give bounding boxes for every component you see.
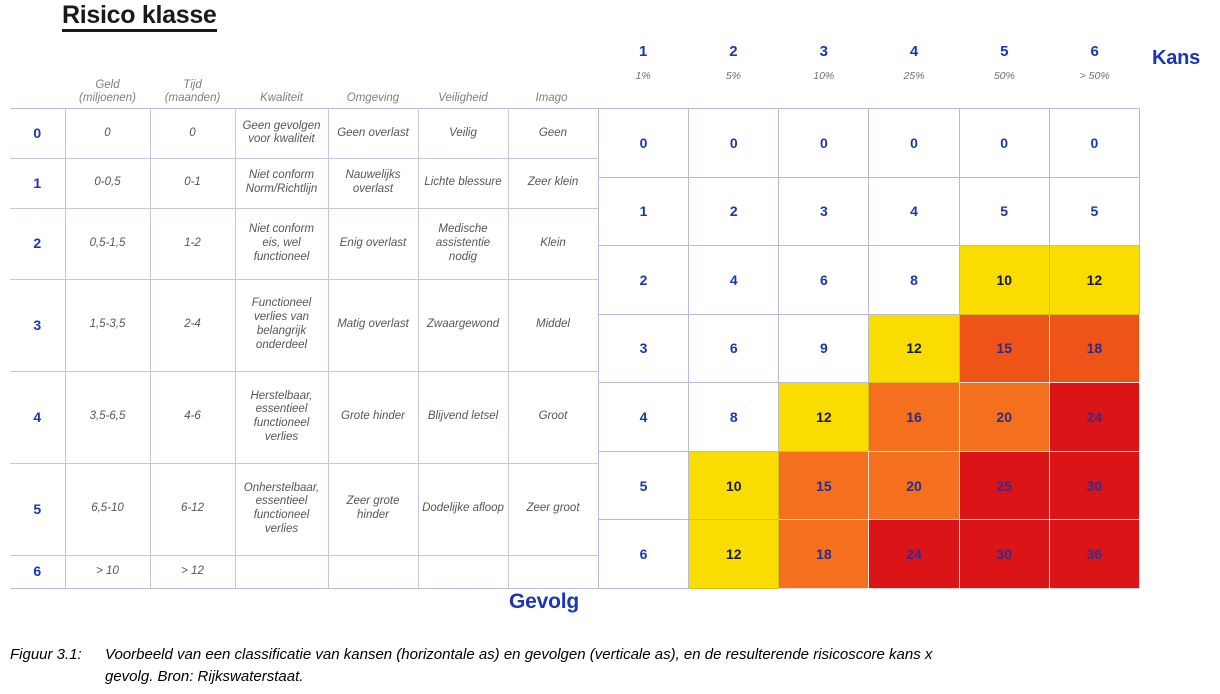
cell-tijd: > 12	[150, 555, 235, 588]
matrix-row: 000000	[599, 109, 1140, 178]
matrix-cell-5-3: 15	[779, 451, 869, 520]
cell-omgeving	[328, 555, 418, 588]
cell-kwaliteit: Geen gevolgen voor kwaliteit	[235, 109, 328, 159]
matrix-cell-2-4: 8	[869, 246, 959, 315]
matrix-cell-6-1: 6	[599, 520, 689, 589]
axis-label-gevolg: Gevolg	[509, 590, 579, 614]
cell-imago: Klein	[508, 208, 598, 279]
matrix-col-header-number: 5	[1000, 44, 1008, 61]
matrix-col-header-number: 2	[729, 44, 737, 61]
cell-veiligheid: Blijvend letsel	[418, 371, 508, 463]
cell-tijd: 4-6	[150, 371, 235, 463]
matrix-cell-0-3: 0	[779, 109, 869, 178]
cell-geld: 3,5-6,5	[65, 371, 150, 463]
cell-imago: Zeer klein	[508, 158, 598, 208]
matrix-cell-3-3: 9	[779, 314, 869, 383]
matrix-cell-4-3: 12	[779, 383, 869, 452]
matrix-column-header-row: 11%25%310%425%550%6> 50%	[598, 44, 1140, 106]
matrix-col-header-4: 425%	[869, 44, 959, 106]
matrix-row: 24681012	[599, 246, 1140, 315]
cell-geld: 6,5-10	[65, 463, 150, 555]
cell-veiligheid: Medische assistentie nodig	[418, 208, 508, 279]
figure-caption: Figuur 3.1:Voorbeeld van een classificat…	[10, 644, 1210, 688]
matrix-col-header-6: 6> 50%	[1049, 44, 1139, 106]
cell-kwaliteit: Herstelbaar, essentieel functioneel verl…	[235, 371, 328, 463]
matrix-cell-4-4: 16	[869, 383, 959, 452]
cell-kwaliteit	[235, 555, 328, 588]
matrix-col-header-3: 310%	[779, 44, 869, 106]
matrix-cell-2-6: 12	[1049, 246, 1139, 315]
cell-imago: Middel	[508, 279, 598, 371]
matrix-cell-1-3: 3	[779, 177, 869, 246]
header-tijd-line1: Tijd	[165, 79, 221, 93]
row-index-3: 3	[10, 279, 65, 371]
caption-line2: gevolg. Bron: Rijkswaterstaat.	[10, 666, 1210, 688]
matrix-col-header-number: 4	[910, 44, 918, 61]
matrix-col-header-percent: 1%	[636, 70, 651, 82]
cell-tijd: 0	[150, 109, 235, 159]
cell-omgeving: Grote hinder	[328, 371, 418, 463]
cell-imago: Groot	[508, 371, 598, 463]
matrix-cell-3-6: 18	[1049, 314, 1139, 383]
caption-line1: Voorbeeld van een classificatie van kans…	[105, 646, 932, 663]
table-row: 10-0,50-1Niet conform Norm/RichtlijnNauw…	[10, 158, 598, 208]
axis-label-kans: Kans	[1152, 47, 1200, 70]
cell-omgeving: Matig overlast	[328, 279, 418, 371]
matrix-cell-1-6: 5	[1049, 177, 1139, 246]
header-tijd-line2: (maanden)	[165, 92, 221, 106]
descriptive-table: 000Geen gevolgen voor kwaliteitGeen over…	[10, 108, 599, 589]
matrix-row: 123455	[599, 177, 1140, 246]
cell-geld: 0-0,5	[65, 158, 150, 208]
matrix-col-header-percent: > 50%	[1080, 70, 1110, 82]
matrix-cell-4-6: 24	[1049, 383, 1139, 452]
table-row: 43,5-6,54-6Herstelbaar, essentieel funct…	[10, 371, 598, 463]
header-kwaliteit: Kwaliteit	[235, 68, 328, 108]
header-tijd: Tijd (maanden)	[150, 68, 235, 108]
cell-omgeving: Zeer grote hinder	[328, 463, 418, 555]
row-index-1: 1	[10, 158, 65, 208]
matrix-cell-2-2: 4	[689, 246, 779, 315]
matrix-cell-0-1: 0	[599, 109, 689, 178]
matrix-row: 51015202530	[599, 451, 1140, 520]
cell-geld: > 10	[65, 555, 150, 588]
cell-kwaliteit: Niet conform Norm/Richtlijn	[235, 158, 328, 208]
matrix-col-header-number: 1	[639, 44, 647, 61]
matrix-cell-2-5: 10	[959, 246, 1049, 315]
header-veiligheid: Veiligheid	[418, 68, 508, 108]
cell-geld: 0	[65, 109, 150, 159]
cell-imago: Zeer groot	[508, 463, 598, 555]
cell-geld: 0,5-1,5	[65, 208, 150, 279]
cell-veiligheid: Dodelijke afloop	[418, 463, 508, 555]
matrix-cell-5-2: 10	[689, 451, 779, 520]
matrix-col-header-5: 550%	[959, 44, 1049, 106]
matrix-cell-3-2: 6	[689, 314, 779, 383]
matrix-cell-6-4: 24	[869, 520, 959, 589]
table-row: 56,5-106-12Onherstelbaar, essentieel fun…	[10, 463, 598, 555]
table-row: 31,5-3,52-4Functioneel verlies van belan…	[10, 279, 598, 371]
matrix-cell-0-5: 0	[959, 109, 1049, 178]
matrix-cell-0-6: 0	[1049, 109, 1139, 178]
matrix-col-header-percent: 5%	[726, 70, 741, 82]
matrix-cell-4-2: 8	[689, 383, 779, 452]
header-geld-line1: Geld	[79, 79, 136, 93]
matrix-row: 61218243036	[599, 520, 1140, 589]
matrix-cell-6-2: 12	[689, 520, 779, 589]
header-index	[10, 68, 65, 108]
cell-imago: Geen	[508, 109, 598, 159]
cell-tijd: 1-2	[150, 208, 235, 279]
matrix-cell-3-1: 3	[599, 314, 689, 383]
matrix-row: 369121518	[599, 314, 1140, 383]
matrix-col-header-number: 6	[1090, 44, 1098, 61]
matrix-col-header-1: 11%	[598, 44, 688, 106]
matrix-cell-6-6: 36	[1049, 520, 1139, 589]
cell-veiligheid: Veilig	[418, 109, 508, 159]
cell-tijd: 2-4	[150, 279, 235, 371]
descriptive-table-header-row: Geld (miljoenen) Tijd (maanden) Kwalitei…	[10, 68, 598, 108]
cell-geld: 1,5-3,5	[65, 279, 150, 371]
matrix-cell-4-1: 4	[599, 383, 689, 452]
cell-veiligheid: Zwaargewond	[418, 279, 508, 371]
matrix-cell-5-1: 5	[599, 451, 689, 520]
matrix-cell-2-1: 2	[599, 246, 689, 315]
cell-kwaliteit: Onherstelbaar, essentieel functioneel ve…	[235, 463, 328, 555]
matrix-col-header-percent: 25%	[904, 70, 925, 82]
matrix-cell-6-5: 30	[959, 520, 1049, 589]
matrix-col-header-percent: 10%	[813, 70, 834, 82]
header-imago: Imago	[508, 68, 595, 108]
matrix-cell-5-6: 30	[1049, 451, 1139, 520]
matrix-cell-1-1: 1	[599, 177, 689, 246]
matrix-cell-1-2: 2	[689, 177, 779, 246]
matrix-cell-1-4: 4	[869, 177, 959, 246]
cell-veiligheid: Lichte blessure	[418, 158, 508, 208]
matrix-cell-5-4: 20	[869, 451, 959, 520]
matrix-cell-0-2: 0	[689, 109, 779, 178]
page-title: Risico klasse	[62, 2, 217, 32]
matrix-col-header-2: 25%	[688, 44, 778, 106]
cell-omgeving: Enig overlast	[328, 208, 418, 279]
matrix-col-header-number: 3	[820, 44, 828, 61]
descriptive-table-body: 000Geen gevolgen voor kwaliteitGeen over…	[10, 109, 598, 589]
table-row: 000Geen gevolgen voor kwaliteitGeen over…	[10, 109, 598, 159]
row-index-2: 2	[10, 208, 65, 279]
matrix-cell-2-3: 6	[779, 246, 869, 315]
row-index-0: 0	[10, 109, 65, 159]
matrix-cell-3-5: 15	[959, 314, 1049, 383]
matrix-col-header-percent: 50%	[994, 70, 1015, 82]
matrix-cell-0-4: 0	[869, 109, 959, 178]
row-index-5: 5	[10, 463, 65, 555]
cell-kwaliteit: Niet conform eis, wel functioneel	[235, 208, 328, 279]
cell-kwaliteit: Functioneel verlies van belangrijk onder…	[235, 279, 328, 371]
row-index-6: 6	[10, 555, 65, 588]
caption-label: Figuur 3.1:	[10, 644, 105, 666]
cell-omgeving: Geen overlast	[328, 109, 418, 159]
header-geld-line2: (miljoenen)	[79, 92, 136, 106]
matrix-cell-5-5: 25	[959, 451, 1049, 520]
table-row: 20,5-1,51-2Niet conform eis, wel functio…	[10, 208, 598, 279]
cell-veiligheid	[418, 555, 508, 588]
row-index-4: 4	[10, 371, 65, 463]
cell-tijd: 6-12	[150, 463, 235, 555]
table-row: 6> 10> 12	[10, 555, 598, 588]
matrix-cell-1-5: 5	[959, 177, 1049, 246]
cell-omgeving: Nauwelijks overlast	[328, 158, 418, 208]
header-geld: Geld (miljoenen)	[65, 68, 150, 108]
matrix-cell-6-3: 18	[779, 520, 869, 589]
cell-imago	[508, 555, 598, 588]
cell-tijd: 0-1	[150, 158, 235, 208]
header-omgeving: Omgeving	[328, 68, 418, 108]
matrix-cell-4-5: 20	[959, 383, 1049, 452]
risk-matrix-body: 0000001234552468101236912151848121620245…	[599, 109, 1140, 589]
risk-matrix: 0000001234552468101236912151848121620245…	[598, 108, 1140, 589]
matrix-cell-3-4: 12	[869, 314, 959, 383]
matrix-row: 4812162024	[599, 383, 1140, 452]
